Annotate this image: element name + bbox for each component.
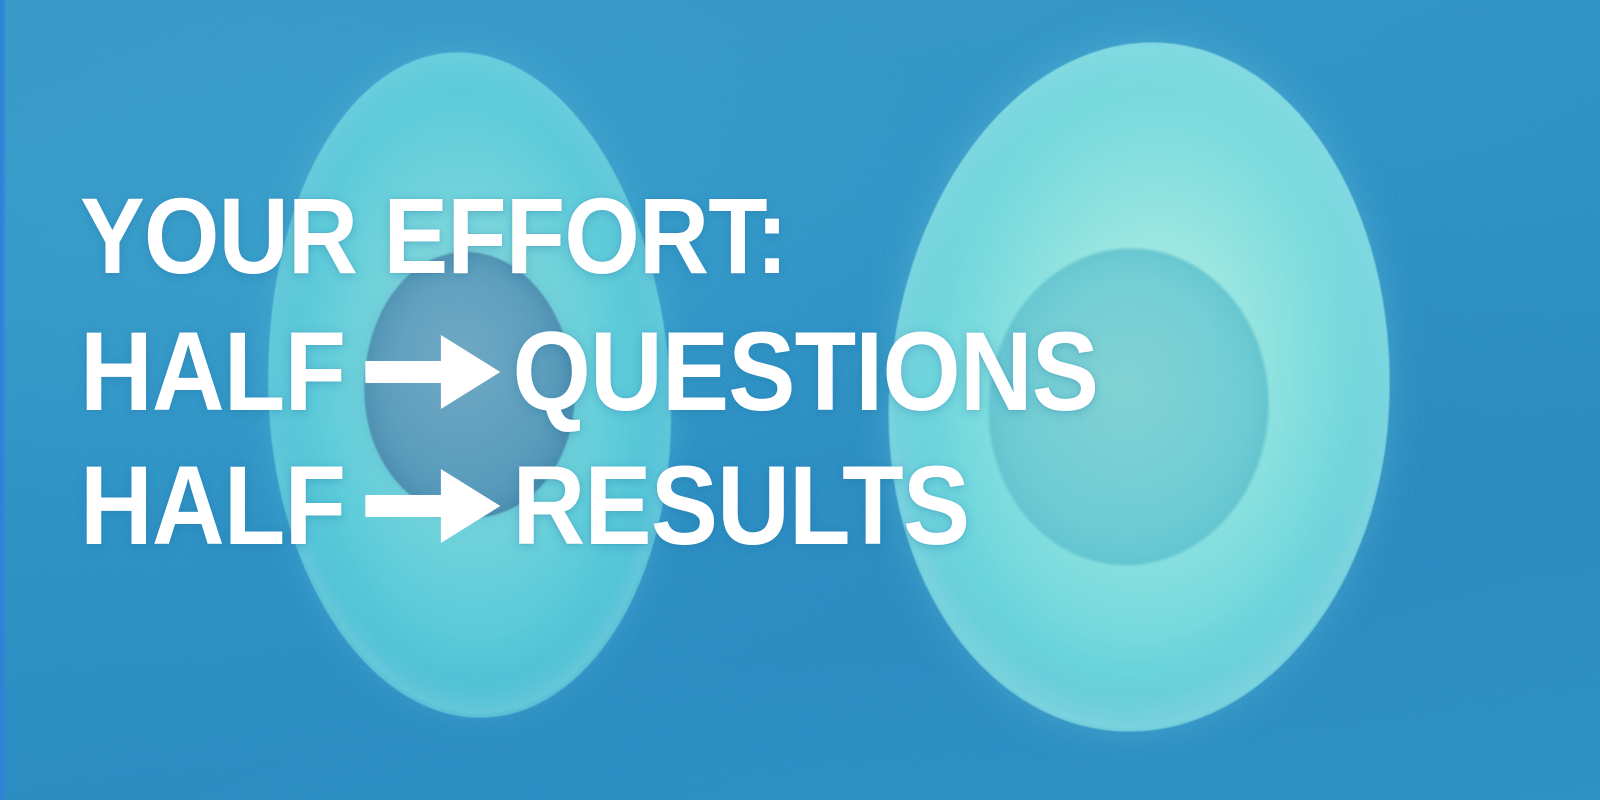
headline-line-2: HALF QUESTIONS: [80, 316, 1098, 428]
right-arrow-head: [441, 335, 500, 409]
promo-banner: YOUR EFFORT: HALF QUESTIONS HALF RESULTS: [0, 0, 1600, 800]
headline-line-2-left-text: HALF: [80, 316, 345, 428]
headline-block: YOUR EFFORT: HALF QUESTIONS HALF RESULTS: [80, 182, 1211, 562]
right-arrow-shaft: [365, 495, 448, 517]
left-edge-strip: [0, 0, 6, 800]
headline-line-3: HALF RESULTS: [80, 450, 1098, 562]
headline-line-1: YOUR EFFORT:: [80, 182, 1098, 290]
headline-line-3-right-text: RESULTS: [513, 450, 970, 562]
right-arrow-shaft: [365, 361, 448, 383]
right-arrow-icon: [365, 335, 500, 409]
headline-line-2-right-text: QUESTIONS: [513, 316, 1099, 428]
right-arrow-head: [441, 469, 500, 543]
headline-line-1-text: YOUR EFFORT:: [80, 182, 787, 290]
headline-line-3-left-text: HALF: [80, 450, 345, 562]
right-arrow-icon: [365, 469, 500, 543]
